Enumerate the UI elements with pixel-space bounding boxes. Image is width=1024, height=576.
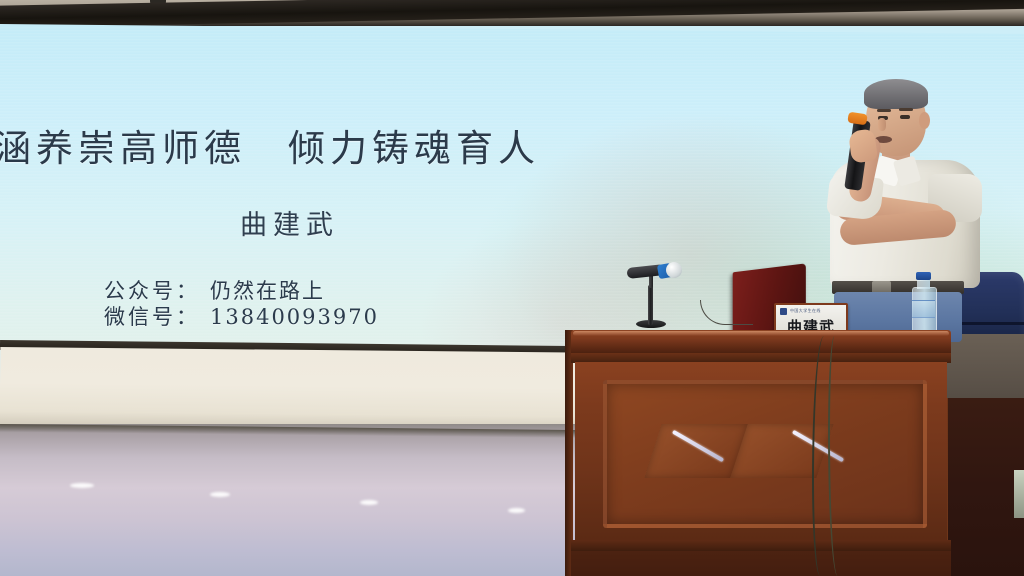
contact-label: 微信号： [104, 305, 200, 329]
podium-top-surface [571, 330, 951, 354]
desk-microphone-windscreen [666, 262, 682, 278]
floor-light-reflection [360, 500, 378, 505]
contact-value: 13840093970 [210, 305, 379, 329]
slide-author: 曲建武 [240, 203, 339, 242]
speaker-hair [864, 79, 928, 109]
podium-cable-b [828, 336, 844, 576]
podium-decorative-panel [603, 380, 927, 528]
floor-light-reflection [508, 508, 525, 513]
speaker-eyebrow-right [899, 108, 913, 111]
right-dark-panel [948, 398, 1024, 576]
desk-microphone-stem [648, 285, 653, 325]
podium-front-body [575, 362, 947, 542]
floor-light-reflection [210, 492, 230, 497]
handheld-microphone-head [847, 112, 867, 126]
water-bottle-cap [916, 272, 931, 280]
podium-skirt [571, 551, 951, 576]
speaker-nose [878, 118, 886, 131]
contact-row-wechat: 微信号：13840093970 [104, 304, 379, 330]
contact-label: 公众号： [104, 279, 200, 303]
contact-row-public-account: 公众号：仍然在路上 [104, 278, 379, 304]
slide-contact-block: 公众号：仍然在路上 微信号：13840093970 [104, 278, 379, 330]
right-light-strip [1014, 470, 1024, 518]
organization-logo-text: 中国大学生在线 [790, 308, 821, 314]
speaker-ear [919, 112, 930, 129]
speaker-eyebrow-left [877, 109, 891, 112]
lecture-hall-photo: 涵养崇高师德 倾力铸魂育人 曲建武 公众号：仍然在路上 微信号：13840093… [0, 0, 1024, 576]
speaker-eye-right [900, 115, 910, 119]
speaker-hand [848, 128, 878, 163]
podium [571, 330, 951, 576]
floor-light-reflection [70, 483, 94, 488]
podium-top-highlight [573, 331, 949, 336]
water-bottle-label [912, 300, 935, 318]
slide-title: 涵养崇高师德 倾力铸魂育人 [0, 118, 674, 172]
contact-value: 仍然在路上 [210, 279, 325, 303]
organization-logo-icon [780, 308, 787, 315]
